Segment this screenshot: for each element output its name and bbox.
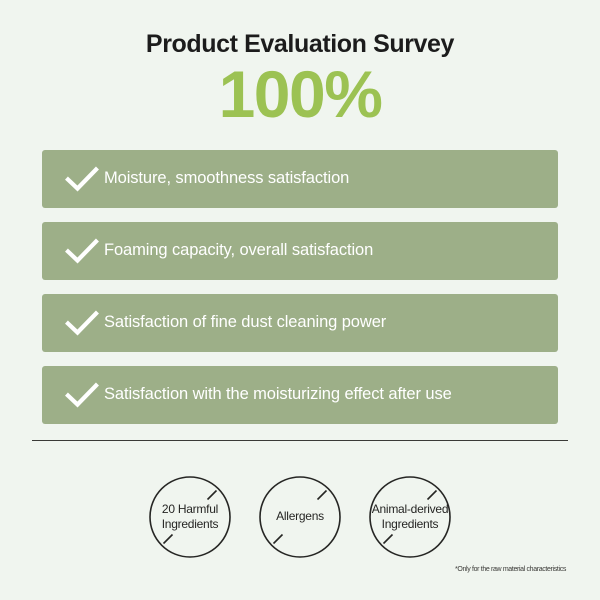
badge-label-line1: 20 Harmful <box>162 502 218 516</box>
page-title: Product Evaluation Survey <box>0 0 600 59</box>
footnote: *Only for the raw material characteristi… <box>455 566 566 573</box>
list-item: 20 Harmful Ingredients <box>148 475 232 559</box>
list-item: Satisfaction of fine dust cleaning power <box>42 294 558 352</box>
free-from-badges: 20 Harmful Ingredients Allergens <box>0 472 600 562</box>
list-item-label: Satisfaction of fine dust cleaning power <box>104 313 386 333</box>
list-item-label: Moisture, smoothness satisfaction <box>104 169 349 189</box>
badge-label-line2: Ingredients <box>382 517 439 531</box>
badge-label: Allergens <box>252 475 348 559</box>
list-item: Foaming capacity, overall satisfaction <box>42 222 558 280</box>
list-item: Allergens <box>258 475 342 559</box>
check-icon <box>60 166 104 192</box>
badge-label-line1: Allergens <box>276 509 324 523</box>
badge-label-line2: Ingredients <box>162 517 219 531</box>
check-icon <box>60 310 104 336</box>
badge-label: 20 Harmful Ingredients <box>142 475 238 559</box>
list-item: Moisture, smoothness satisfaction <box>42 150 558 208</box>
list-item-label: Satisfaction with the moisturizing effec… <box>104 385 452 405</box>
badge-label-line1: Animal-derived <box>372 502 449 516</box>
check-icon <box>60 238 104 264</box>
list-item: Animal-derived Ingredients <box>368 475 452 559</box>
section-divider <box>32 440 568 441</box>
badge-label: Animal-derived Ingredients <box>362 475 458 559</box>
header: Product Evaluation Survey 100% <box>0 0 600 128</box>
list-item: Satisfaction with the moisturizing effec… <box>42 366 558 424</box>
list-item-label: Foaming capacity, overall satisfaction <box>104 241 373 261</box>
results-list: Moisture, smoothness satisfaction Foamin… <box>42 150 558 438</box>
survey-infographic: Product Evaluation Survey 100% Moisture,… <box>0 0 600 600</box>
satisfaction-percentage: 100% <box>0 59 600 128</box>
check-icon <box>60 382 104 408</box>
